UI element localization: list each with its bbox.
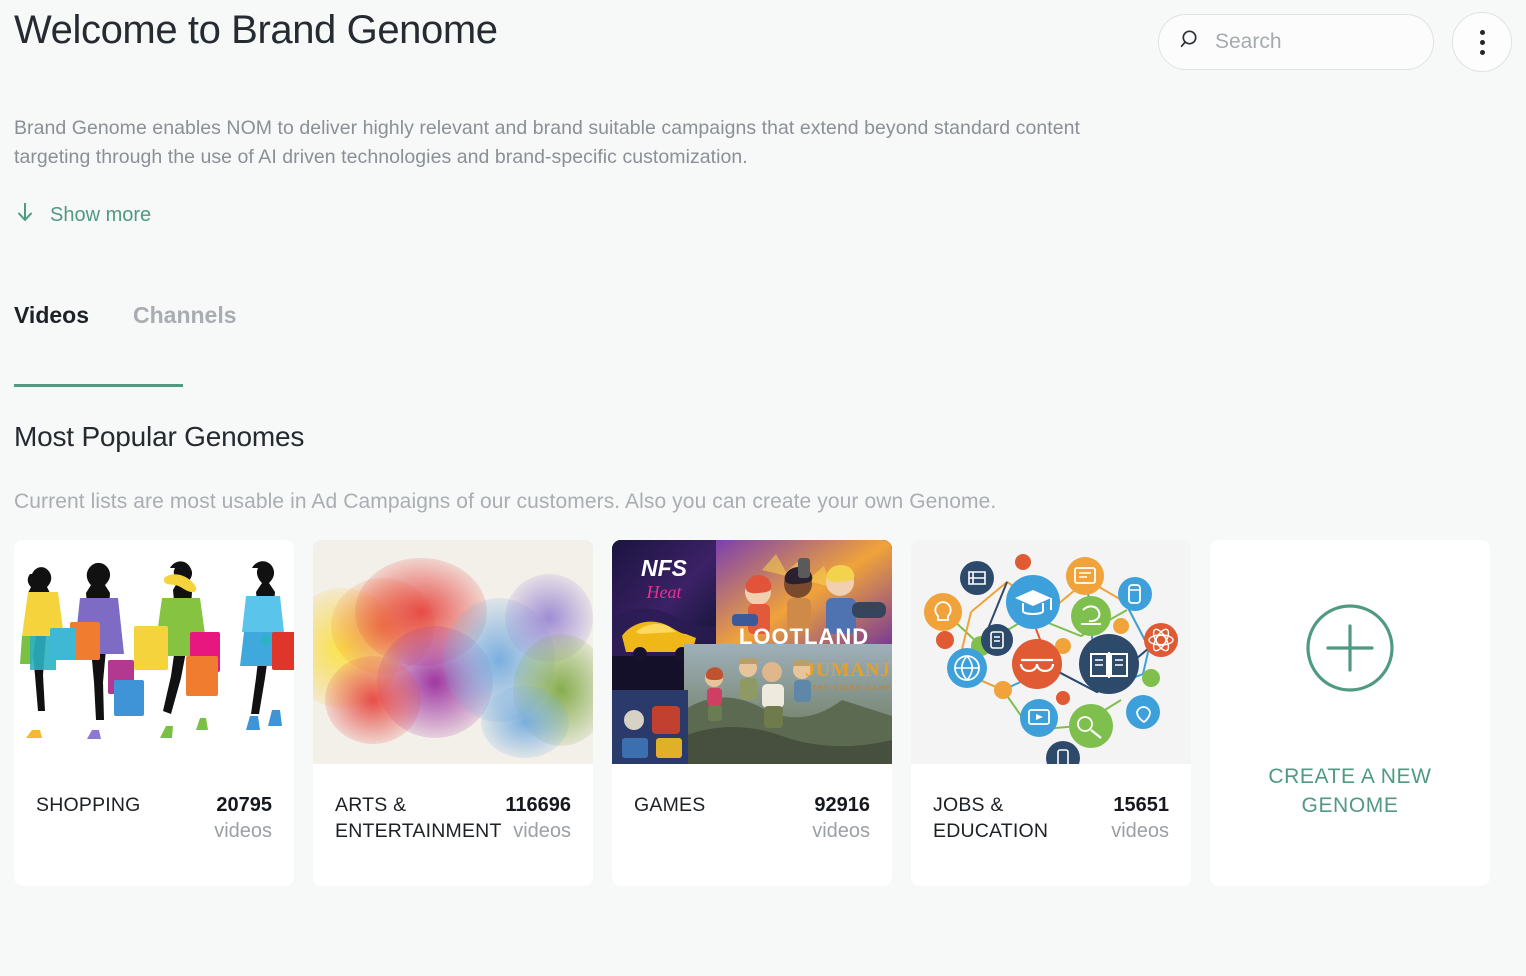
show-more-button[interactable]: Show more — [14, 200, 151, 230]
shopping-illustration — [14, 540, 294, 764]
search-box[interactable] — [1158, 14, 1434, 70]
tab-bar: Videos Channels — [14, 302, 1512, 387]
page-header: Welcome to Brand Genome — [14, 0, 1512, 92]
page-root: Welcome to Brand Genome Brand Genome ena… — [0, 0, 1526, 976]
card-footer: SHOPPING 20795 videos — [14, 764, 294, 886]
kebab-dot — [1480, 50, 1485, 55]
genome-card-arts-entertainment[interactable]: ARTS & ENTERTAINMENT 116696 videos — [313, 540, 593, 886]
kebab-dot — [1480, 30, 1485, 35]
card-count-number: 116696 — [505, 792, 571, 818]
card-count-number: 20795 — [214, 792, 272, 818]
card-title: GAMES — [634, 792, 705, 818]
card-count: 15651 videos — [1111, 792, 1169, 844]
svg-text:JUMANJI: JUMANJI — [805, 659, 892, 681]
genome-card-jobs-education[interactable]: JOBS & EDUCATION 15651 videos — [911, 540, 1191, 886]
search-icon — [1179, 28, 1203, 57]
intro-description: Brand Genome enables NOM to deliver high… — [14, 92, 1089, 171]
card-count-unit: videos — [505, 818, 571, 844]
create-new-genome-card[interactable]: CREATE A NEW GENOME — [1210, 540, 1490, 886]
card-count-unit: videos — [812, 818, 870, 844]
search-input[interactable] — [1215, 30, 1413, 54]
card-footer: ARTS & ENTERTAINMENT 116696 videos — [313, 764, 593, 886]
section-subtitle: Current lists are most usable in Ad Camp… — [14, 490, 1512, 514]
card-count-number: 92916 — [812, 792, 870, 818]
card-title: SHOPPING — [36, 792, 141, 818]
card-count: 20795 videos — [214, 792, 272, 844]
arrow-down-icon — [14, 200, 36, 230]
card-count: 116696 videos — [505, 792, 571, 844]
header-actions — [1158, 12, 1512, 72]
card-count-unit: videos — [214, 818, 272, 844]
genome-card-games[interactable]: NFS Heat — [612, 540, 892, 886]
tab-channels[interactable]: Channels — [133, 302, 237, 387]
show-more-label: Show more — [50, 204, 151, 227]
card-count-unit: videos — [1111, 818, 1169, 844]
kebab-menu-button[interactable] — [1452, 12, 1512, 72]
education-network-illustration — [911, 540, 1191, 764]
card-title: ARTS & ENTERTAINMENT — [335, 792, 495, 844]
card-count-number: 15651 — [1111, 792, 1169, 818]
card-footer: GAMES 92916 videos — [612, 764, 892, 886]
page-title: Welcome to Brand Genome — [14, 8, 498, 53]
game-covers-collage: NFS Heat — [612, 540, 892, 764]
genome-card-shopping[interactable]: SHOPPING 20795 videos — [14, 540, 294, 886]
plus-circle-icon — [1304, 602, 1396, 699]
card-footer: JOBS & EDUCATION 15651 videos — [911, 764, 1191, 886]
section-title: Most Popular Genomes — [14, 421, 1512, 453]
create-new-genome-label: CREATE A NEW GENOME — [1210, 762, 1490, 820]
tab-videos[interactable]: Videos — [14, 302, 89, 387]
genome-card-list: SHOPPING 20795 videos — [14, 540, 1512, 886]
kebab-dot — [1480, 40, 1485, 45]
card-title: JOBS & EDUCATION — [933, 792, 1093, 844]
svg-text:THE VIDEO GAME: THE VIDEO GAME — [812, 685, 892, 692]
svg-text:NFS: NFS — [641, 555, 688, 581]
watercolor-illustration — [313, 540, 593, 764]
svg-text:Heat: Heat — [646, 582, 683, 602]
card-count: 92916 videos — [812, 792, 870, 844]
